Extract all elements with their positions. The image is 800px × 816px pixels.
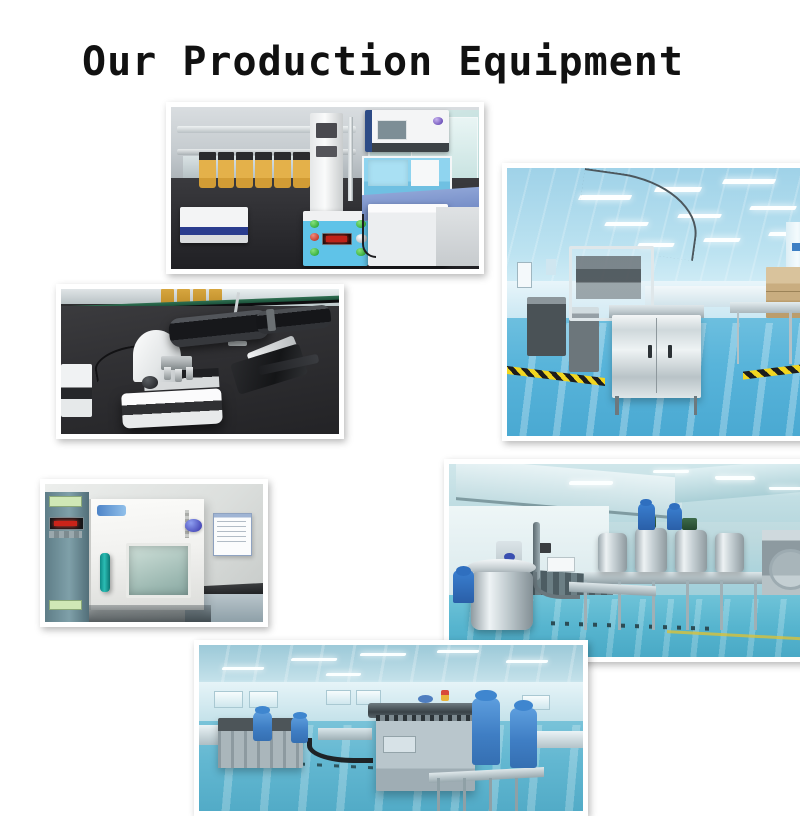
microscope-base [121, 388, 223, 428]
operator [638, 503, 654, 530]
mixing-tank [635, 528, 668, 572]
operator [472, 698, 501, 764]
photo-lab-testing-bench[interactable] [166, 102, 484, 274]
operator [667, 506, 682, 529]
operator [253, 711, 272, 741]
photo-cleanroom-packaging-hall[interactable] [502, 163, 800, 441]
oven-viewing-window [126, 543, 191, 597]
photo-1-image [171, 107, 479, 269]
photo-6-image [199, 645, 583, 811]
page-title: Our Production Equipment [82, 39, 684, 85]
operator [510, 708, 537, 768]
photo-emulsifying-tank-workshop[interactable] [444, 459, 800, 662]
photo-drying-oven-chamber[interactable] [40, 479, 268, 627]
mixing-tank [675, 530, 708, 572]
photo-filling-line-cleanroom[interactable] [194, 640, 588, 816]
photo-2-image [507, 168, 800, 436]
magnetic-stirrer [180, 207, 248, 243]
temperature-display [49, 517, 84, 530]
sample-tubes [199, 152, 310, 188]
andon-signal-light [441, 690, 449, 702]
photo-4-image [45, 484, 263, 622]
led-display [322, 233, 352, 245]
operator [291, 716, 308, 743]
brand-logo [97, 505, 125, 516]
photo-microscope-workstation[interactable] [56, 284, 344, 439]
oven-door-handle [100, 553, 111, 592]
focus-knob [142, 376, 159, 389]
photo-3-image [61, 289, 339, 434]
mixing-tank [598, 533, 627, 572]
photo-5-image [449, 464, 800, 657]
mixing-tank [715, 533, 744, 572]
emulsifying-kettle [471, 572, 533, 630]
collage-page: Our Production Equipment [0, 0, 800, 800]
